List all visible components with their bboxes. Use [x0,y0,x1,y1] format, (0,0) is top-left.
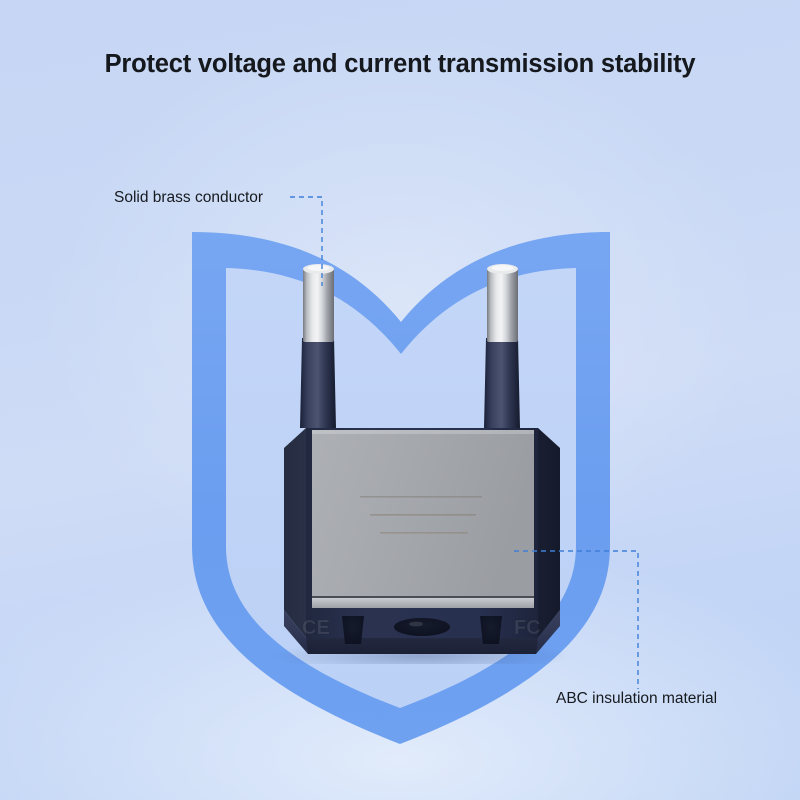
pin-right-barrel [487,268,518,342]
pin-left [300,264,336,428]
ce-mark: CE [302,617,330,639]
pin-left-sleeve [300,338,336,428]
callout-label-solid-brass-conductor: Solid brass conductor [114,189,263,207]
pin-left-barrel [303,268,334,342]
plug-bottom-shade [306,638,538,654]
socket-slot-right [480,616,502,644]
plug-body-right-chamfer [538,428,560,638]
plug-face-top-highlight [312,430,534,434]
plug-face-bottom-band [312,598,534,608]
center-oval-hole [394,618,450,636]
socket-slot-left [342,616,364,644]
fcc-mark: FC [514,617,541,639]
pin-right-sleeve [484,338,520,428]
center-hole-highlight [409,622,423,627]
callout-label-abc-insulation-material: ABC insulation material [556,690,717,708]
pin-right [484,264,520,428]
plug-face-band-edge [312,596,534,598]
power-plug-adapter: CE FC [246,252,598,664]
plug-face-panel [312,430,534,608]
page-title: Protect voltage and current transmission… [0,50,800,79]
pin-right-tip-highlight [492,265,514,271]
pin-left-tip-highlight [308,265,330,271]
plug-body-left-chamfer [284,428,306,638]
product-feature-image: CE FC Protect voltage and current transm… [0,0,800,800]
